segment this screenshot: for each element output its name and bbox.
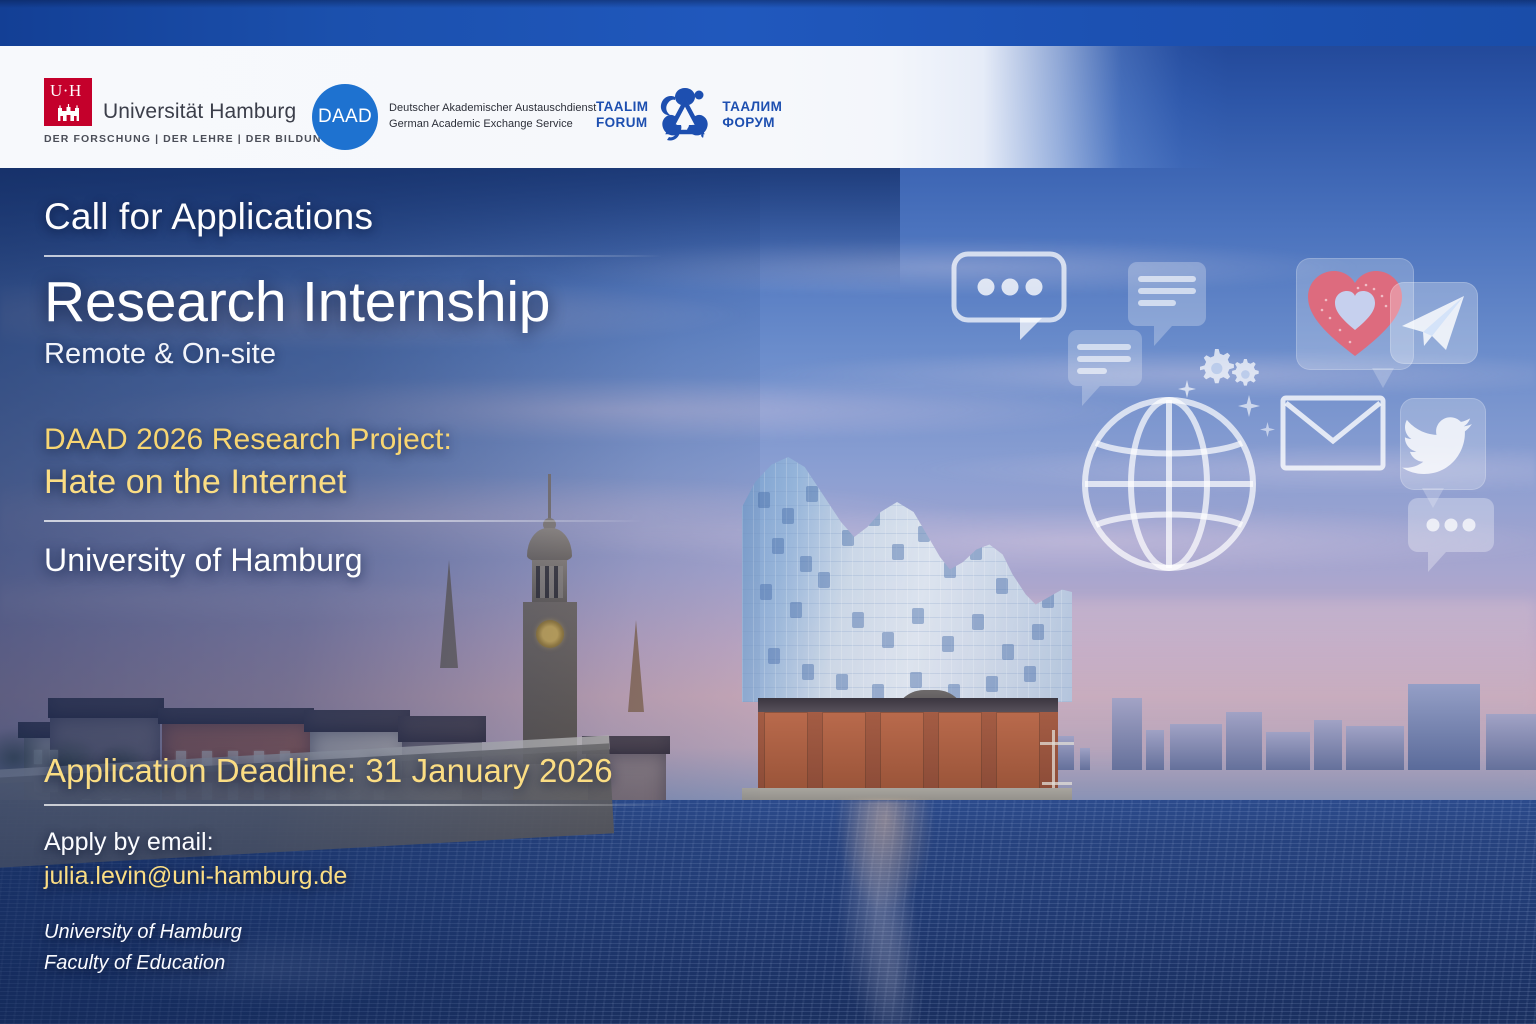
chat-bubble-dots-icon: [950, 250, 1070, 345]
uh-mark-icon: U·H: [44, 78, 92, 126]
eyebrow-text: Call for Applications: [44, 196, 744, 238]
paper-plane-icon: [1390, 282, 1478, 364]
poster: U·H Universität Hamburg DER: [0, 0, 1536, 1024]
daad-acronym: DAAD: [318, 106, 372, 128]
uh-tagline: DER FORSCHUNG | DER LEHRE | DER BILDUNG: [44, 126, 331, 145]
page-subtitle: Remote & On-site: [44, 338, 744, 371]
social-media-icon-cluster: [940, 240, 1510, 570]
logo-taalim-forum: TAALIM FORUM ТААЛИМ ФОРУМ: [596, 84, 782, 146]
envelope-icon: [1280, 395, 1386, 471]
globe-icon: [1080, 395, 1258, 573]
harbour-crane: [1038, 730, 1078, 792]
organisation-line-2: Faculty of Education: [44, 948, 744, 979]
organisation-line-1: University of Hamburg: [44, 917, 744, 948]
twitter-bird-icon: [1400, 398, 1486, 490]
hafencity-skyline: [1050, 640, 1536, 770]
daad-name-english: German Academic Exchange Service: [389, 117, 596, 133]
sun-reflection: [780, 800, 990, 1024]
taalim-cyrillic-name: ТААЛИМ ФОРУМ: [722, 99, 782, 132]
taalim-cyrillic-line2: ФОРУМ: [722, 115, 782, 131]
chat-bubble-dots-small-icon: [1408, 498, 1494, 576]
gears-icon: [1195, 345, 1263, 387]
sparkle-icon: [1260, 422, 1275, 437]
daad-mark-icon: DAAD: [312, 84, 378, 150]
apply-label: Apply by email:: [44, 828, 744, 857]
main-content: Call for Applications Research Internshi…: [44, 196, 744, 579]
project-name: Hate on the Internet: [44, 463, 744, 502]
footer-content: Application Deadline: 31 January 2026 Ap…: [44, 752, 744, 979]
daad-fullname: Deutscher Akademischer Austauschdienst G…: [389, 101, 596, 132]
daad-name-german: Deutscher Akademischer Austauschdienst: [389, 101, 596, 117]
taalim-cyrillic-line1: ТААЛИМ: [722, 99, 782, 115]
institution-name: University of Hamburg: [44, 542, 744, 579]
uh-monogram: U·H: [50, 81, 82, 101]
taalim-latin-line2: FORUM: [596, 115, 648, 131]
taalim-latin-line1: TAALIM: [596, 99, 648, 115]
taalim-latin-name: TAALIM FORUM: [596, 99, 648, 132]
logo-daad: DAAD Deutscher Akademischer Austauschdie…: [312, 84, 596, 150]
divider-2: [44, 520, 644, 522]
divider-3: [44, 804, 674, 806]
organisation-block: University of Hamburg Faculty of Educati…: [44, 917, 744, 979]
logo-universitaet-hamburg: U·H Universität Hamburg DER: [44, 78, 331, 145]
contact-email[interactable]: julia.levin@uni-hamburg.de: [44, 862, 744, 891]
hamburg-castle-icon: [57, 102, 80, 121]
deadline-text: Application Deadline: 31 January 2026: [44, 752, 744, 790]
page-title: Research Internship: [44, 273, 744, 332]
top-accent-bar: [0, 0, 1536, 46]
divider-1: [44, 255, 662, 257]
taalim-triskelion-icon: [656, 84, 714, 146]
project-label: DAAD 2026 Research Project:: [44, 423, 744, 457]
